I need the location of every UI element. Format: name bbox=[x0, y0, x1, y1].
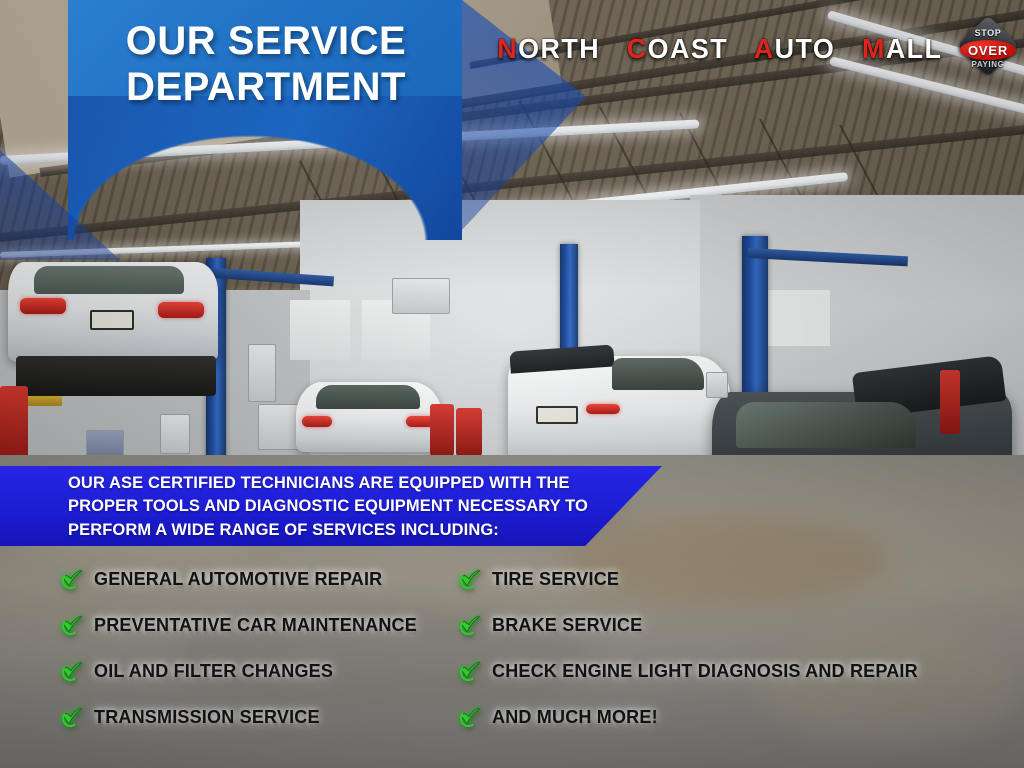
logo-cap-m: M bbox=[862, 33, 886, 64]
logo-word-mall: MALL bbox=[862, 33, 942, 64]
banner-line-2: PROPER TOOLS AND DIAGNOSTIC EQUIPMENT NE… bbox=[68, 495, 628, 518]
license-plate bbox=[90, 310, 134, 330]
description-banner-text: OUR ASE CERTIFIED TECHNICIANS ARE EQUIPP… bbox=[68, 472, 628, 542]
windshield bbox=[736, 402, 916, 448]
banner-line-3: PERFORM A WIDE RANGE OF SERVICES INCLUDI… bbox=[68, 519, 628, 542]
rear-window bbox=[34, 266, 184, 294]
check-icon bbox=[60, 659, 84, 683]
logo-space bbox=[609, 33, 618, 64]
wall-mounted-ac-unit bbox=[392, 278, 450, 314]
page-title-line-1: OUR SERVICE bbox=[82, 18, 450, 64]
shop-cabinet bbox=[706, 372, 728, 398]
shop-cabinet bbox=[160, 414, 190, 454]
electrical-panel bbox=[248, 344, 276, 402]
logo-space bbox=[844, 33, 853, 64]
service-department-graphic: OUR SERVICE DEPARTMENT NORTH COAST AUTO … bbox=[0, 0, 1024, 768]
badge-stop-text: STOP bbox=[960, 28, 1016, 38]
logo-rest-orth: ORTH bbox=[518, 33, 600, 64]
rear-window bbox=[316, 385, 420, 409]
vehicle-white-sedan-lifted bbox=[8, 262, 218, 362]
list-item[interactable]: TIRE SERVICE bbox=[458, 556, 1024, 602]
list-item[interactable]: BRAKE SERVICE bbox=[458, 602, 1024, 648]
logo-rest-uto: UTO bbox=[775, 33, 836, 64]
check-icon bbox=[458, 659, 482, 683]
services-checklist: GENERAL AUTOMOTIVE REPAIR PREVENTATIVE C… bbox=[0, 556, 1024, 736]
service-label: TRANSMISSION SERVICE bbox=[94, 707, 320, 728]
services-right-column: TIRE SERVICE BRAKE SERVICE CHECK ENGINE … bbox=[458, 556, 1024, 740]
wall-panel bbox=[760, 290, 830, 346]
logo-cap-n: N bbox=[498, 33, 519, 64]
service-label: PREVENTATIVE CAR MAINTENANCE bbox=[94, 615, 417, 636]
check-icon bbox=[60, 705, 84, 729]
taillight bbox=[586, 404, 620, 414]
service-label: BRAKE SERVICE bbox=[492, 615, 642, 636]
red-tool-cart bbox=[940, 370, 960, 434]
service-label: GENERAL AUTOMOTIVE REPAIR bbox=[94, 569, 382, 590]
taillight-left bbox=[302, 416, 332, 427]
service-label: CHECK ENGINE LIGHT DIAGNOSIS AND REPAIR bbox=[492, 661, 918, 682]
logo-word-north: NORTH bbox=[498, 33, 601, 64]
stop-over-paying-badge: STOP OVER PAYING bbox=[960, 22, 1016, 76]
logo-cap-c: C bbox=[627, 33, 648, 64]
check-icon bbox=[458, 705, 482, 729]
banner-line-1: OUR ASE CERTIFIED TECHNICIANS ARE EQUIPP… bbox=[68, 472, 628, 495]
page-title: OUR SERVICE DEPARTMENT bbox=[82, 18, 450, 111]
list-item[interactable]: OIL AND FILTER CHANGES bbox=[60, 648, 480, 694]
page-title-line-2: DEPARTMENT bbox=[82, 64, 450, 110]
service-label: AND MUCH MORE! bbox=[492, 707, 658, 728]
list-item[interactable]: PREVENTATIVE CAR MAINTENANCE bbox=[60, 602, 480, 648]
badge-over-text: OVER bbox=[960, 43, 1016, 58]
brand-logo[interactable]: NORTH COAST AUTO MALL STOP OVER PAYING bbox=[488, 22, 1016, 76]
list-item[interactable]: TRANSMISSION SERVICE bbox=[60, 694, 480, 740]
license-plate bbox=[536, 406, 578, 424]
badge-paying-text: PAYING bbox=[960, 60, 1016, 69]
check-icon bbox=[60, 567, 84, 591]
logo-space bbox=[737, 33, 746, 64]
check-icon bbox=[458, 567, 482, 591]
logo-rest-oast: OAST bbox=[648, 33, 728, 64]
list-item[interactable]: CHECK ENGINE LIGHT DIAGNOSIS AND REPAIR bbox=[458, 648, 1024, 694]
taillight-right bbox=[158, 302, 204, 318]
vehicle-underbody bbox=[16, 356, 216, 396]
logo-cap-a: A bbox=[754, 33, 775, 64]
service-label: OIL AND FILTER CHANGES bbox=[94, 661, 333, 682]
list-item[interactable]: GENERAL AUTOMOTIVE REPAIR bbox=[60, 556, 480, 602]
list-item[interactable]: AND MUCH MORE! bbox=[458, 694, 1024, 740]
red-tool-cart bbox=[430, 404, 454, 456]
taillight-left bbox=[20, 298, 66, 314]
check-icon bbox=[458, 613, 482, 637]
brand-logo-wordmark: NORTH COAST AUTO MALL bbox=[498, 33, 943, 65]
logo-word-auto: AUTO bbox=[754, 33, 835, 64]
service-label: TIRE SERVICE bbox=[492, 569, 619, 590]
wall-panel bbox=[290, 300, 350, 360]
vehicle-white-suv bbox=[508, 356, 730, 466]
vehicle-white-sedan-center bbox=[296, 382, 442, 452]
red-tool-cart bbox=[456, 408, 482, 456]
check-icon bbox=[60, 613, 84, 637]
side-window bbox=[612, 358, 704, 390]
logo-rest-all: ALL bbox=[886, 33, 943, 64]
logo-word-coast: COAST bbox=[627, 33, 728, 64]
services-left-column: GENERAL AUTOMOTIVE REPAIR PREVENTATIVE C… bbox=[60, 556, 480, 740]
